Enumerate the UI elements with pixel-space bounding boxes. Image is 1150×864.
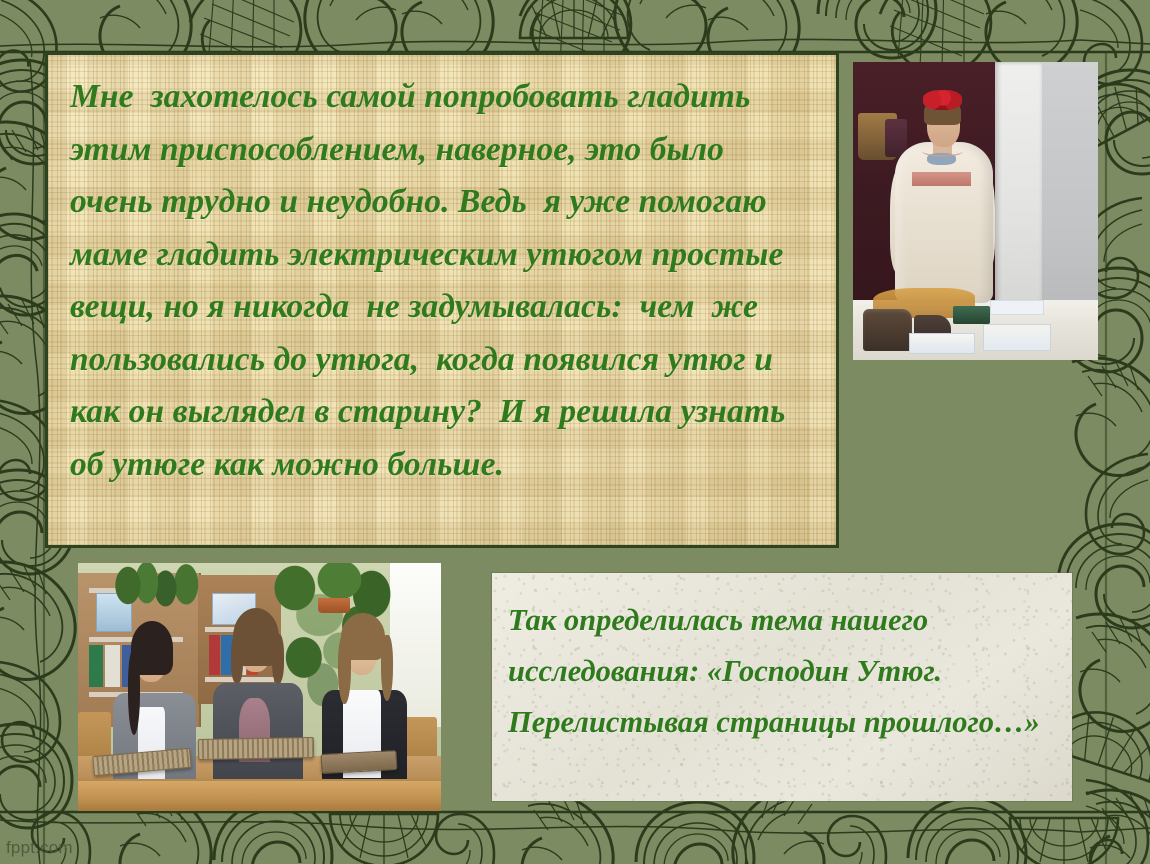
photo-student-3-hair-right [381, 635, 393, 701]
photo-folder-green [89, 645, 104, 687]
photo-rubel-2 [198, 737, 315, 760]
photo-girl-in-folk-costume [853, 62, 1098, 360]
photo-paper-3 [990, 300, 1044, 315]
photo-content-girl-costume [853, 62, 1098, 360]
photo-antique-iron-1 [863, 309, 912, 351]
photo-folk-dress [895, 142, 993, 303]
photo-paper-1 [909, 333, 975, 354]
research-topic-text: Так определилась тема нашего исследовани… [492, 573, 1072, 758]
photo-door-panel [995, 62, 1044, 324]
main-text-panel: Мне захотелось самой попробовать гладить… [45, 52, 839, 548]
fppt-watermark: fppt.com [6, 838, 73, 858]
main-body-text: Мне захотелось самой попробовать гладить… [48, 55, 836, 501]
photo-three-students-with-rubels [78, 563, 441, 811]
photo-flower-pot [318, 598, 351, 613]
photo-hanging-plant-left [111, 563, 205, 615]
photo-student-2-hair-side-right [272, 634, 284, 683]
photo-student-2 [209, 608, 307, 796]
photo-student-1-ponytail [128, 650, 140, 736]
photo-red-headdress [923, 90, 962, 109]
photo-rubel-3 [321, 750, 398, 774]
research-topic-panel: Так определилась тема нашего исследовани… [492, 573, 1072, 801]
presentation-slide: Мне захотелось самой попробовать гладить… [0, 0, 1150, 864]
photo-school-desk [78, 779, 441, 811]
photo-paper-2 [983, 324, 1052, 351]
photo-dress-embroidery [912, 172, 971, 185]
photo-green-book [953, 306, 990, 324]
photo-student-1-blouse [138, 707, 164, 786]
photo-student-3-hair-left [338, 635, 350, 705]
photo-content-three-girls [78, 563, 441, 811]
photo-student-2-hair-side-left [231, 634, 243, 683]
photo-light-wall [1042, 62, 1098, 312]
